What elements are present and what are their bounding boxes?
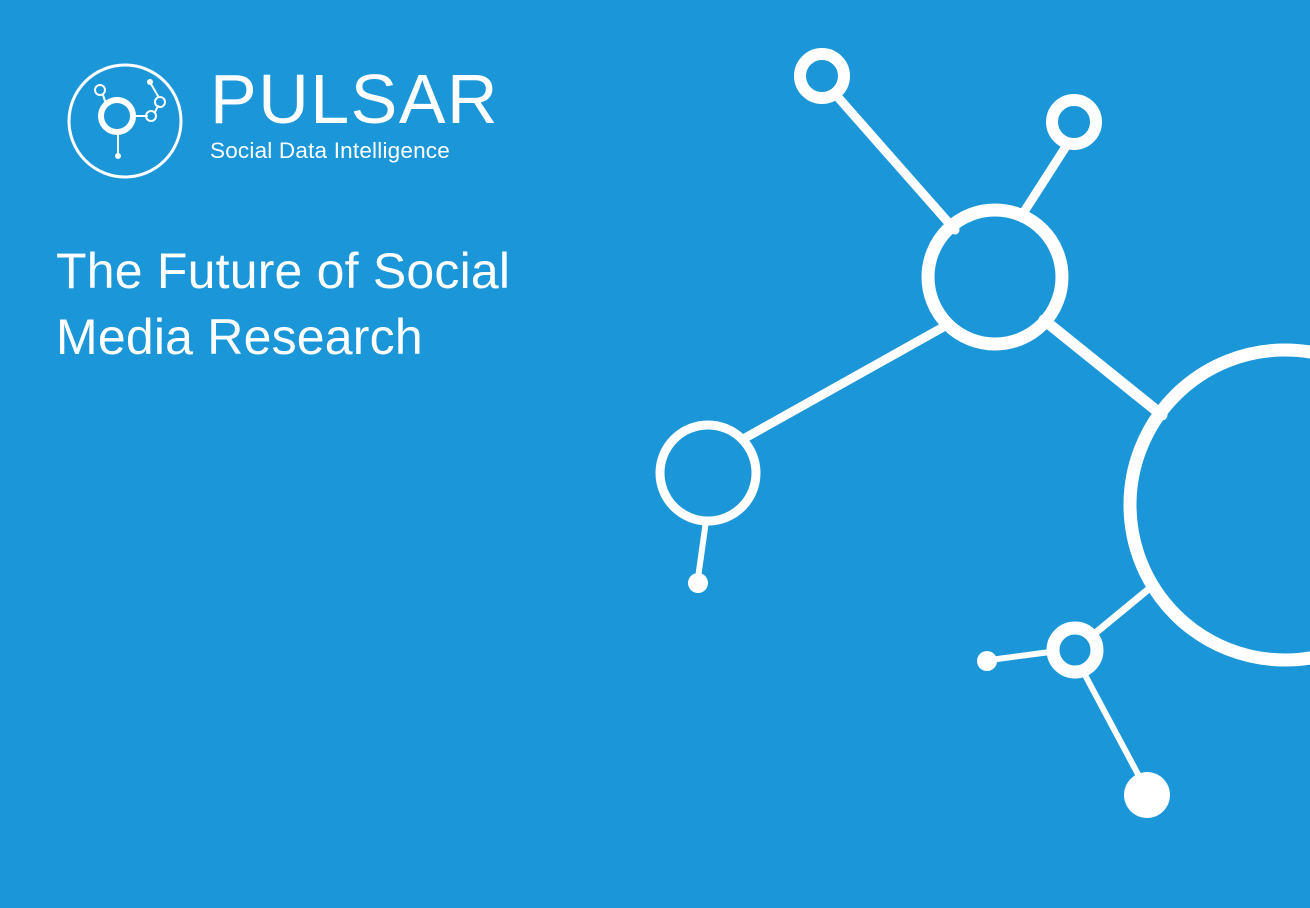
page-title-line-2: Media Research bbox=[56, 304, 676, 370]
brand-logo: PULSAR Social Data Intelligence bbox=[62, 58, 622, 190]
edge-hub-to-big-circle bbox=[1044, 320, 1162, 415]
network-node-big-circle bbox=[1130, 350, 1310, 660]
logo-node-center-ring bbox=[101, 100, 133, 132]
logo-node-bottom-dot bbox=[115, 153, 121, 159]
edge-top-right-to-hub bbox=[1022, 148, 1065, 215]
network-node-left bbox=[660, 425, 756, 521]
page-title-line-1: The Future of Social bbox=[56, 238, 676, 304]
network-node-hub bbox=[928, 210, 1062, 344]
network-node-group bbox=[660, 54, 1310, 818]
network-node-small-dot bbox=[977, 651, 997, 671]
network-node-top-right bbox=[1052, 100, 1096, 144]
edge-small-ring-to-bottom-dot bbox=[1085, 675, 1140, 778]
brand-wordmark-group: PULSAR Social Data Intelligence bbox=[210, 64, 610, 164]
network-node-small-ring bbox=[1053, 628, 1097, 672]
edge-top-left-to-hub bbox=[836, 95, 955, 230]
pulsar-network-circle-logo bbox=[62, 58, 188, 184]
network-node-bottom-dot bbox=[1124, 772, 1170, 818]
edge-left-node-to-dot bbox=[698, 521, 706, 578]
logo-outer-circle bbox=[69, 65, 181, 177]
brand-tagline: Social Data Intelligence bbox=[210, 138, 610, 164]
logo-node-far-ring bbox=[155, 97, 165, 107]
network-node-left-dot bbox=[688, 573, 708, 593]
logo-edge-far-ring-to-top-dot bbox=[151, 84, 158, 96]
brand-wordmark: PULSAR bbox=[210, 64, 610, 134]
edge-small-ring-to-big-circle bbox=[1093, 588, 1150, 635]
network-edge-group bbox=[698, 95, 1162, 778]
page-title: The Future of Social Media Research bbox=[56, 238, 676, 370]
edge-hub-to-left-node bbox=[745, 325, 947, 438]
presentation-title-slide: PULSAR Social Data Intelligence The Futu… bbox=[0, 0, 1310, 908]
edge-small-dot-to-ring bbox=[990, 652, 1050, 660]
logo-node-top-dot bbox=[147, 79, 153, 85]
logo-node-upper-left-ring bbox=[95, 85, 105, 95]
network-node-top-left bbox=[800, 54, 844, 98]
